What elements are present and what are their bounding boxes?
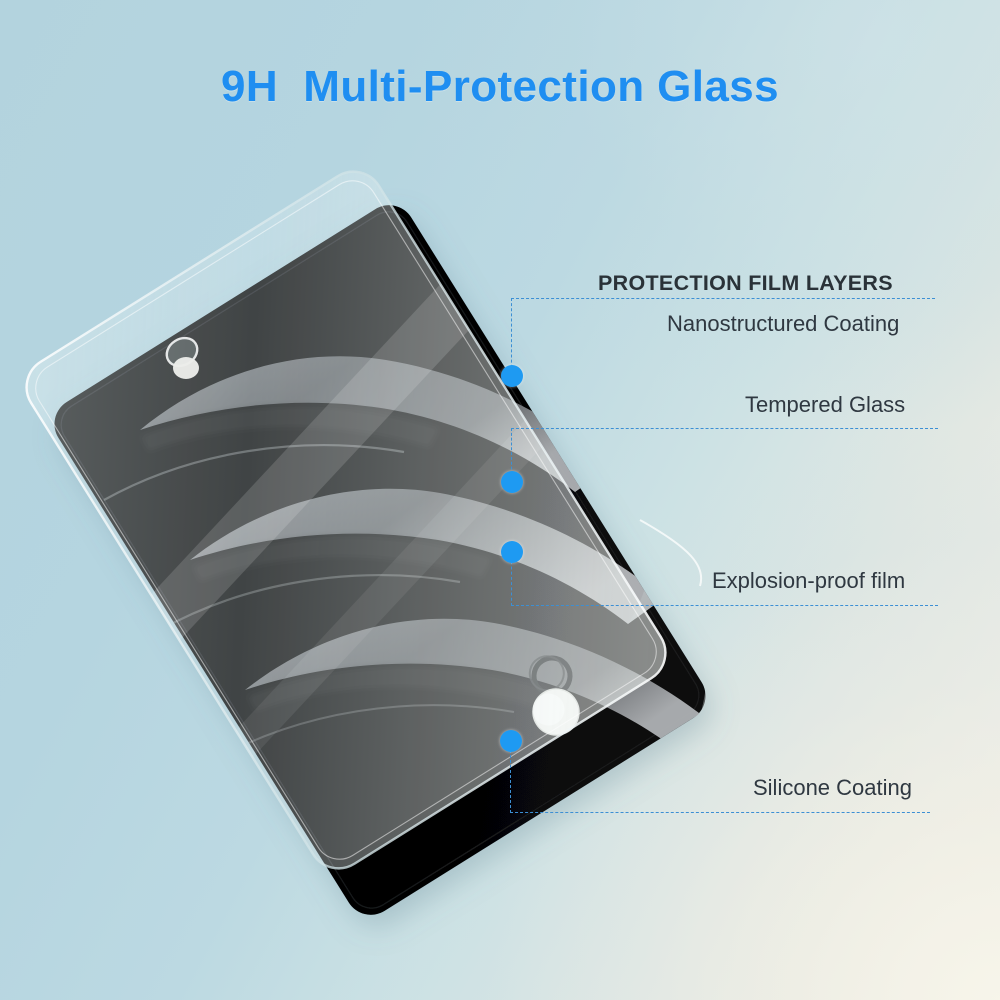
page-title: 9H Multi-Protection Glass — [0, 62, 1000, 112]
background-top-glow — [0, 0, 1000, 1000]
callout-label-explosion-proof-film: Explosion-proof film — [712, 568, 905, 594]
leader-line-h-4 — [510, 812, 930, 813]
product-infographic: 9H Multi-Protection Glass — [0, 0, 1000, 1000]
callout-label-silicone-coating: Silicone Coating — [753, 775, 912, 801]
leader-line-v-4 — [510, 745, 511, 813]
leader-line-h-2 — [511, 428, 938, 429]
leader-line-v-3 — [511, 556, 512, 606]
callout-header: PROTECTION FILM LAYERS — [598, 271, 893, 296]
leader-line-h-3 — [511, 605, 938, 606]
callout-label-nanostructured-coating: Nanostructured Coating — [667, 311, 899, 337]
callout-dot-3[interactable] — [501, 541, 523, 563]
leader-line-h-1 — [511, 298, 935, 299]
callout-dot-4[interactable] — [500, 730, 522, 752]
callout-dot-1[interactable] — [501, 365, 523, 387]
callout-label-tempered-glass: Tempered Glass — [745, 392, 905, 418]
callout-dot-2[interactable] — [501, 471, 523, 493]
